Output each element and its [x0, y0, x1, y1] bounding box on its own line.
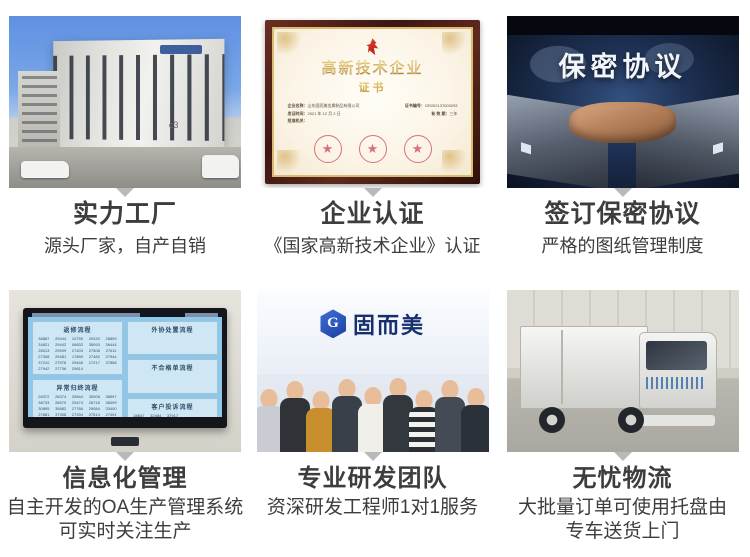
oa-number: 27766: [70, 406, 86, 411]
truck-cargo-box: [520, 326, 647, 409]
monitor-bezel: 返修流程 38887 29444 10759 29433 28899 34821: [23, 308, 227, 428]
handshake-nda-photo: 保密协议: [507, 16, 739, 188]
team-member: [385, 352, 411, 452]
oa-number: 29084: [86, 406, 102, 411]
certificate-field-value: GR202137003293: [425, 103, 458, 108]
oa-number: 39008: [86, 394, 102, 399]
oa-number: 06832: [70, 342, 86, 347]
oa-number: 27578: [53, 360, 69, 365]
oa-number: 33400: [103, 406, 119, 411]
factory-building-photo: c3: [9, 16, 241, 188]
feature-subtitle: 自主开发的OA生产管理系统 可实时关注生产: [7, 496, 243, 544]
oa-number: 28013: [36, 348, 52, 353]
pointer-triangle-icon: [364, 188, 382, 197]
team-member: [282, 352, 308, 452]
certificate-seals: ★ ★ ★: [274, 135, 472, 163]
team-members: [257, 352, 489, 452]
feature-cell-nda-signing: 保密协议 签订保密协议 严格的图纸管理制度: [495, 0, 750, 280]
oa-number: 28847: [131, 413, 147, 417]
certificate-field-label: 证书编号：: [405, 103, 425, 108]
oa-number: 32484: [148, 413, 164, 417]
oa-panel-numbers: 38887 29444 10759 29433 28899 34821 2944…: [36, 336, 119, 371]
team-member: [463, 352, 489, 452]
certificate-seal-icon: ★: [314, 135, 342, 163]
company-logo-text: 固而美: [353, 308, 425, 340]
oa-number: 27308: [36, 354, 52, 359]
oa-number: 27508: [86, 348, 102, 353]
truck-door-decal: [646, 377, 706, 388]
team-member: [334, 352, 360, 452]
team-member: [411, 352, 437, 452]
oa-number: 29481: [53, 354, 69, 359]
oa-number: 27482: [86, 354, 102, 359]
oa-number: 37917: [165, 413, 181, 417]
truck-bumper: [636, 415, 715, 426]
certificate-field-value: 山东固而美金属制品有限公司: [307, 103, 359, 108]
oa-number: 38733: [36, 400, 52, 405]
certificate-field-label: 批准机关：: [287, 118, 307, 123]
truck-cab: [639, 332, 718, 409]
feature-cell-enterprise-certification: 高新技术企业 证书 企业名称：山东固而美金属制品有限公司 证书编号：GR2021…: [250, 0, 495, 280]
oa-number: 27491: [103, 412, 119, 417]
oa-number: 38597: [103, 394, 119, 399]
oa-number: 28970: [53, 400, 69, 405]
oa-number: 27334: [70, 412, 86, 417]
oa-number: 27944: [103, 354, 119, 359]
oa-number: 35093: [86, 342, 102, 347]
certificate-field-label: 发证时间：: [287, 111, 307, 116]
oa-panel: 客户投诉流程 28847 32484 37917: [127, 398, 218, 417]
oa-panel-heading: 外协处置流程: [131, 325, 214, 334]
oa-number: 36099: [103, 400, 119, 405]
oa-number: 29444: [53, 336, 69, 341]
oa-number: 29474: [70, 400, 86, 405]
pointer-triangle-icon: [614, 188, 632, 197]
certificate-subheading: 证书: [359, 79, 387, 95]
hexagon-g-logo-icon: G: [320, 309, 346, 338]
oa-number: 17890: [70, 354, 86, 359]
oa-number: 29599: [53, 348, 69, 353]
oa-number: 27942: [36, 366, 52, 371]
team-member: [308, 352, 334, 452]
oa-number: 37210: [36, 360, 52, 365]
oa-number: 17217: [86, 360, 102, 365]
oa-number: 27611: [103, 348, 119, 353]
truck-window: [646, 341, 707, 371]
certificate-field-value: 三年: [450, 111, 458, 116]
shirt-cuff-left: [522, 142, 532, 155]
truck-wheel: [539, 407, 565, 433]
feature-title: 实力工厂: [73, 200, 177, 230]
factory-truck: [202, 155, 239, 177]
certificate-field-label: 有 效 期：: [431, 111, 449, 116]
oa-panel: 外协处置流程: [127, 321, 218, 356]
feature-subtitle: 资深研发工程师1对1服务: [267, 496, 478, 520]
feature-title: 信息化管理: [63, 465, 188, 493]
certificate-inner: 高新技术企业 证书 企业名称：山东固而美金属制品有限公司 证书编号：GR2021…: [272, 27, 474, 176]
high-tech-certificate-photo: 高新技术企业 证书 企业名称：山东固而美金属制品有限公司 证书编号：GR2021…: [257, 16, 489, 188]
feature-cell-information-management: 返修流程 38887 29444 10759 29433 28899 34821: [0, 280, 250, 557]
feature-title: 专业研发团队: [298, 465, 448, 493]
oa-screen-body: 返修流程 38887 29444 10759 29433 28899 34821: [28, 317, 222, 417]
feature-grid: c3 实力工厂 源头厂家，自产自销 高新技术企业: [0, 0, 750, 557]
oa-panel-heading: 异常归终流程: [36, 383, 119, 392]
oa-panel: 返修流程 38887 29444 10759 29433 28899 34821: [32, 321, 123, 375]
feature-title: 企业认证: [320, 200, 424, 230]
oa-system-monitor-photo: 返修流程 38887 29444 10759 29433 28899 34821: [9, 290, 241, 452]
oa-number: 10759: [70, 336, 86, 341]
monitor-stand: [111, 437, 139, 445]
oa-number: 36444: [103, 342, 119, 347]
feature-cell-rd-team: G 固而美 专业研发团队 资深研发工程师1对1服务: [250, 280, 495, 557]
certificate-flame-emblem-icon: [366, 38, 380, 55]
oa-number: 29844: [70, 394, 86, 399]
factory-main-building: [53, 39, 224, 150]
certificate-corner-ornament-icon: [442, 32, 468, 54]
oa-number: 29448: [70, 360, 86, 365]
certificate-seal-icon: ★: [359, 135, 387, 163]
oa-number: 28374: [53, 394, 69, 399]
oa-number: 30895: [36, 406, 52, 411]
oa-panel-numbers: 28372 28374 29844 39008 38597 38733 2897…: [36, 394, 119, 417]
team-member: [437, 352, 463, 452]
factory-wall-sign: c3: [169, 120, 179, 130]
oa-panel-heading: 客户投诉流程: [131, 402, 214, 411]
handshake-icon: [569, 102, 676, 143]
oa-number: 28899: [103, 336, 119, 341]
oa-panel-numbers: 28847 32484 37917: [131, 413, 214, 417]
feature-subtitle: 严格的图纸管理制度: [542, 235, 704, 258]
photo-top-band: [507, 16, 739, 35]
factory-side-building: [18, 71, 60, 147]
company-logo: G 固而美: [320, 308, 425, 340]
nda-overlay-text: 保密协议: [507, 45, 739, 84]
monitor-screen: 返修流程 38887 29444 10759 29433 28899 34821: [28, 313, 222, 417]
rd-team-group-photo: G 固而美: [257, 290, 489, 452]
oa-number: 26718: [86, 400, 102, 405]
oa-screen-header: [28, 313, 222, 317]
factory-roof-logo-icon: [160, 45, 202, 54]
shirt-cuff-right: [713, 142, 723, 155]
oa-number: 37858: [103, 360, 119, 365]
certificate-field-value: 2021 年 12 月 2 日: [307, 111, 340, 116]
oa-number: 27881: [36, 412, 52, 417]
certificate-fields: 企业名称：山东固而美金属制品有限公司 证书编号：GR202137003293 发…: [287, 102, 457, 125]
oa-panel-heading: 不合格单流程: [131, 363, 214, 372]
pointer-triangle-icon: [116, 452, 134, 461]
oa-number: 29442: [53, 342, 69, 347]
oa-panel-heading: 返修流程: [36, 325, 119, 334]
feature-subtitle: 大批量订单可使用托盘由 专车送货上门: [518, 496, 727, 544]
pointer-triangle-icon: [116, 188, 134, 197]
oa-number: 29433: [86, 336, 102, 341]
certificate-field-label: 企业名称：: [287, 103, 307, 108]
certificate-seal-icon: ★: [404, 135, 432, 163]
feature-cell-worry-free-logistics: 无忧物流 大批量订单可使用托盘由 专车送货上门: [495, 280, 750, 557]
oa-number: 27403: [70, 348, 86, 353]
feature-subtitle: 《国家高新技术企业》认证: [265, 235, 481, 258]
oa-number: 27514: [86, 412, 102, 417]
oa-number: 27736: [53, 366, 69, 371]
team-member: [257, 352, 283, 452]
pointer-triangle-icon: [614, 452, 632, 461]
oa-panel: 不合格单流程: [127, 359, 218, 394]
factory-van: [21, 161, 70, 178]
feature-title: 签订保密协议: [544, 200, 700, 230]
pointer-triangle-icon: [364, 452, 382, 461]
feature-title: 无忧物流: [573, 465, 673, 493]
certificate-corner-ornament-icon: [277, 32, 303, 54]
oa-number: 35882: [53, 406, 69, 411]
oa-number: 29814: [70, 366, 86, 371]
oa-number: 38887: [36, 336, 52, 341]
oa-number: 34821: [36, 342, 52, 347]
feature-subtitle: 源头厂家，自产自销: [44, 235, 206, 258]
oa-number: 28372: [36, 394, 52, 399]
feature-cell-strong-factory: c3 实力工厂 源头厂家，自产自销: [0, 0, 250, 280]
team-member: [360, 352, 386, 452]
certificate-frame: 高新技术企业 证书 企业名称：山东固而美金属制品有限公司 证书编号：GR2021…: [265, 20, 481, 183]
truck-wheel: [618, 407, 644, 433]
certificate-heading: 高新技术企业: [321, 57, 423, 78]
delivery-truck-photo: [507, 290, 739, 452]
oa-panel: 异常归终流程 28372 28374 29844 39008 38597 387…: [32, 379, 123, 417]
oa-number: 37308: [53, 412, 69, 417]
